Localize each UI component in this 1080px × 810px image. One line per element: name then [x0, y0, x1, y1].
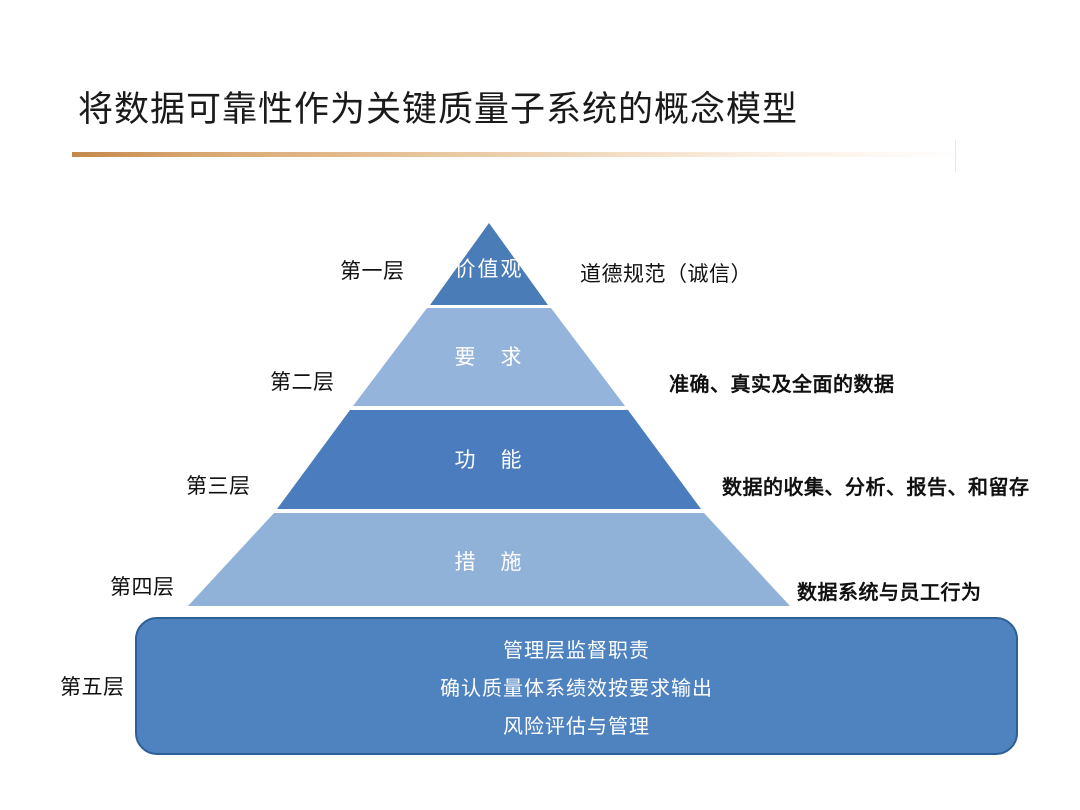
tier-2-left-caption: 第二层	[270, 366, 335, 396]
tier-1-right-description: 道德规范（诚信）	[580, 258, 752, 288]
tier-2-right-description: 准确、真实及全面的数据	[669, 368, 895, 397]
pyramid-tier-3-inner-label: 功 能	[455, 444, 524, 474]
pyramid-tier-4-inner-label: 措 施	[455, 546, 524, 576]
tier-3-left-caption: 第三层	[186, 470, 251, 500]
tier-4-left-caption: 第四层	[110, 571, 175, 601]
tier-5-left-caption: 第五层	[60, 671, 125, 701]
title-block: 将数据可靠性作为关键质量子系统的概念模型	[78, 86, 978, 156]
pyramid-base-box[interactable]: 管理层监督职责 确认质量体系绩效按要求输出 风险评估与管理	[135, 617, 1018, 755]
title-underline-rule	[72, 152, 962, 157]
pyramid-tier-2-inner-label: 要 求	[455, 341, 524, 371]
page-title: 将数据可靠性作为关键质量子系统的概念模型	[78, 86, 978, 134]
base-box-line-3: 风险评估与管理	[503, 710, 650, 739]
base-box-line-2: 确认质量体系绩效按要求输出	[440, 672, 713, 701]
tier-1-left-caption: 第一层	[340, 255, 405, 285]
pyramid-tier-1-inner-label: 价值观	[455, 253, 524, 283]
base-box-line-1: 管理层监督职责	[503, 634, 650, 663]
tier-4-right-description: 数据系统与员工行为	[797, 576, 982, 605]
title-right-tick-mark	[955, 140, 956, 172]
tier-3-right-description: 数据的收集、分析、报告、和留存	[722, 471, 1030, 500]
slide-canvas: 将数据可靠性作为关键质量子系统的概念模型 价值观 要 求 功 能 措 施 第一层…	[0, 0, 1080, 810]
